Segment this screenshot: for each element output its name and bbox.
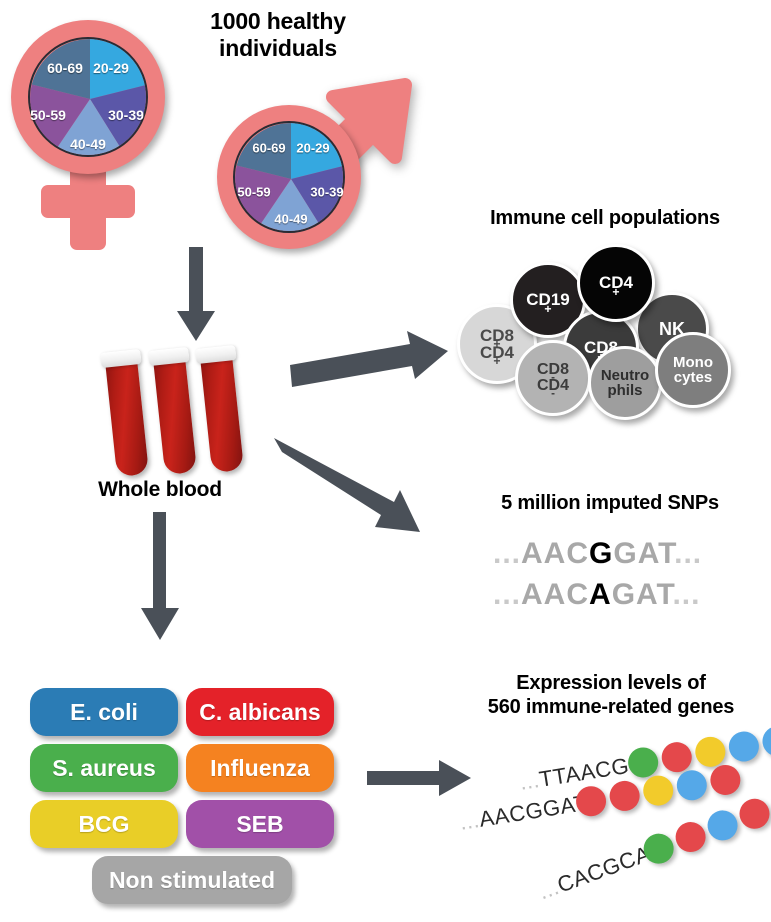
- cell-label-line2: phils: [601, 383, 649, 398]
- cell-label-line1: CD8+: [480, 327, 514, 344]
- strand-sequence-2: ...AACGGAT: [458, 790, 590, 836]
- snp-prefix: ...: [493, 537, 521, 570]
- cell-label: CD19+: [526, 291, 569, 308]
- whole-blood-label: Whole blood: [70, 478, 250, 503]
- strand-bead: [660, 740, 694, 774]
- blood-tube-1: [105, 358, 149, 477]
- cell-label-line1: CD8-: [537, 362, 569, 378]
- expression-title-line1: Expression levels of: [461, 672, 761, 696]
- strand-bead: [708, 763, 742, 797]
- cohort-title-line1: 1000 healthy: [178, 8, 378, 35]
- snp-left: AAC: [521, 578, 589, 611]
- stimulus-e-coli[interactable]: E. coli: [30, 688, 178, 736]
- strand-bead: [607, 779, 641, 813]
- arrow-blood-to-snps: [272, 430, 437, 540]
- blood-tube-3: [200, 354, 244, 473]
- immune-cell-monocytes[interactable]: Mono cytes: [655, 332, 731, 408]
- female-age-pie: [28, 37, 148, 157]
- figure-canvas: 1000 healthy individuals 20-29 30-39 40-…: [0, 0, 771, 922]
- snps-title: 5 million imputed SNPs: [460, 492, 760, 516]
- snp-sequence-row-1: ...AACGGAT...: [493, 537, 702, 571]
- male-age-pie: [233, 121, 345, 233]
- stimulus-seb[interactable]: SEB: [186, 800, 334, 848]
- cell-label: CD4+: [599, 274, 633, 291]
- arrow-blood-to-immune-cells: [288, 325, 453, 385]
- strand-bead: [671, 818, 709, 856]
- snp-highlight: G: [589, 537, 613, 570]
- blood-tube-2: [153, 356, 197, 475]
- cell-label-line1: Mono: [673, 355, 713, 370]
- immune-cells-title: Immune cell populations: [455, 207, 755, 231]
- female-pie-svg: [30, 39, 148, 157]
- stimulus-influenza[interactable]: Influenza: [186, 744, 334, 792]
- expression-strands-group: ...TTAACGG ...AACGGAT ...CACGCAA: [440, 735, 771, 920]
- female-cross-horizontal: [41, 185, 135, 218]
- snp-prefix: ...: [493, 578, 521, 611]
- immune-cell-cd4pos[interactable]: CD4+: [577, 244, 655, 322]
- snp-highlight: A: [589, 578, 612, 611]
- strand-seq: AACGGAT: [477, 790, 589, 832]
- female-gender-symbol: 20-29 30-39 40-49 50-59 60-69: [8, 10, 178, 250]
- arrow-down-blood-to-stimuli: [130, 510, 190, 650]
- male-pie-svg: [235, 123, 345, 233]
- arrow-down-cohort-to-blood: [166, 245, 226, 355]
- stimulus-non-stimulated[interactable]: Non stimulated: [92, 856, 292, 904]
- cohort-title: 1000 healthy individuals: [178, 8, 378, 62]
- strand-bead: [693, 735, 727, 769]
- immune-cell-cd8neg-cd4neg[interactable]: CD8- CD4-: [515, 340, 591, 416]
- immune-cell-neutrophils[interactable]: Neutro phils: [588, 346, 662, 420]
- snp-right: GAT: [612, 578, 673, 611]
- snp-suffix: ...: [672, 578, 700, 611]
- strand-bead: [727, 729, 761, 763]
- snp-left: AAC: [521, 537, 589, 570]
- strand-bead: [703, 806, 741, 844]
- male-gender-symbol: 20-29 30-39 40-49 50-59 60-69: [205, 75, 425, 255]
- strand-bead: [641, 773, 675, 807]
- expression-title: Expression levels of 560 immune-related …: [461, 672, 761, 719]
- blood-tube-fill: [200, 354, 244, 473]
- expression-title-line2: 560 immune-related genes: [461, 696, 761, 720]
- cell-label-line2: CD4+: [480, 344, 514, 361]
- snp-sequence-row-2: ...AACAGAT...: [493, 578, 700, 612]
- blood-tube-fill: [105, 358, 149, 477]
- cell-label-line2: CD4-: [537, 378, 569, 394]
- blood-tube-fill: [153, 356, 197, 475]
- strand-bead: [675, 768, 709, 802]
- strand-bead: [735, 795, 771, 833]
- snp-right: GAT: [613, 537, 674, 570]
- cohort-title-line2: individuals: [178, 35, 378, 62]
- blood-tubes-group: [95, 348, 245, 478]
- cell-label-line1: Neutro: [601, 368, 649, 383]
- stimulus-bcg[interactable]: BCG: [30, 800, 178, 848]
- snp-suffix: ...: [674, 537, 702, 570]
- cell-label-line2: cytes: [673, 370, 713, 385]
- stimulus-c-albicans[interactable]: C. albicans: [186, 688, 334, 736]
- stimulus-s-aureus[interactable]: S. aureus: [30, 744, 178, 792]
- immune-cells-cluster: CD8+ CD4+ CD19+ CD4+ NK CD8+ CD8- CD4- N…: [455, 240, 755, 420]
- strand-bead: [760, 724, 771, 758]
